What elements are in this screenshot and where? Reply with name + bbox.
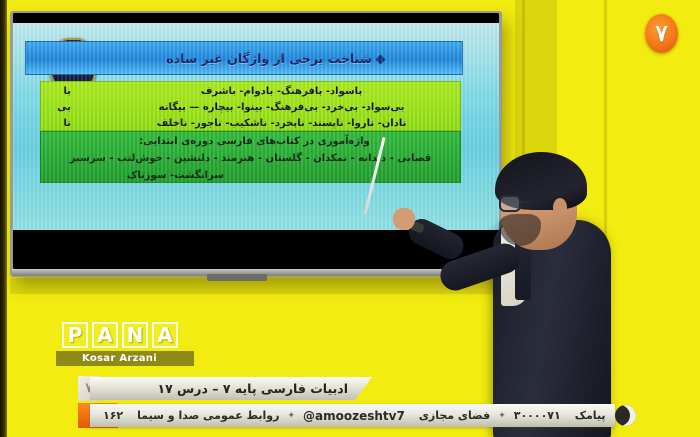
channel-7-logo-icon: ٧ [645, 14, 678, 53]
pana-letter: N [122, 322, 148, 348]
vocabulary-block: واژه‌آموزی در کتاب‌های فارسی دوره‌ی ابتد… [40, 131, 461, 183]
lesson-title-banner: ادبیات فارسی پایه ۷ – درس ۱۷ [90, 377, 372, 400]
contact-ticker-banner: پیامک ۳۰۰۰۰۷۱ ✦ فضای مجازی @amoozeshtv7 … [90, 404, 615, 427]
prefix-row-words: باسواد- بافرهنگ- بادوام- باشرف [71, 84, 452, 100]
ticker-social-label: فضای مجازی [412, 409, 497, 422]
prefix-words-block: باسواد- بافرهنگ- بادوام- باشرف با بی‌سوا… [40, 81, 461, 131]
tv-center-foot [207, 274, 267, 281]
prefix-row-words: بی‌سواد- بی‌خرد- بی‌فرهنگ- بینوا- بیچاره… [71, 100, 452, 116]
prefix-row-label: نا [49, 116, 71, 132]
pana-letter: A [92, 322, 118, 348]
slide-title-text: شناخت برخی از واژگان غیر ساده [166, 51, 384, 66]
ticker-sms-number: ۳۰۰۰۰۷۱ [507, 409, 568, 422]
ticker-separator-icon: ✦ [497, 411, 507, 421]
studio-left-edge [0, 0, 7, 437]
letterbox-top [13, 13, 499, 23]
pana-letter: P [62, 322, 88, 348]
prefix-row-label: بی [49, 100, 71, 116]
slide-title-label: شناخت برخی از واژگان غیر ساده [166, 51, 372, 66]
presenter-hand [393, 208, 415, 230]
ticker-pr-number: ۱۶۲ [96, 409, 130, 422]
lesson-title-text: ادبیات فارسی پایه ۷ – درس ۱۷ [157, 381, 354, 396]
vocabulary-line-2: قصابی - دندانه - نمکدان - گلستان - هنرمن… [49, 150, 452, 167]
crescent-moon-icon [615, 405, 636, 426]
presenter-name-label: Kosar Arzani [56, 351, 194, 366]
presenter-figure [455, 148, 665, 437]
prefix-row-words: نادان- ناروا- ناپسند- نابخرد- ناشکیب- نا… [71, 116, 452, 132]
presentation-slide: جشنواره نوجوان شناخت برخی از واژگان غیر … [13, 23, 499, 230]
ticker-pr-label: روابط عمومی صدا و سیما [130, 409, 286, 422]
channel-logo-glyph: ٧ [655, 22, 667, 45]
vocabulary-heading: واژه‌آموزی در کتاب‌های فارسی دوره‌ی ابتد… [49, 133, 452, 150]
presenter-ear [553, 198, 567, 217]
vocabulary-line-3: سرانگشت- سوزناک [49, 167, 452, 184]
ticker-social-handle[interactable]: @amoozeshtv7 [296, 409, 412, 423]
prefix-row: نادان- ناروا- ناپسند- نابخرد- ناشکیب- نا… [49, 116, 452, 132]
pana-logo-letters: P A N A [62, 322, 194, 348]
ticker-sms-label: پیامک [568, 409, 613, 422]
diamond-bullet-icon [376, 54, 386, 64]
presenter-glasses-bridge [520, 201, 530, 203]
pana-watermark: P A N A Kosar Arzani [62, 322, 194, 366]
presenter-glasses [499, 195, 521, 212]
broadcast-stage: جشنواره نوجوان شناخت برخی از واژگان غیر … [0, 0, 700, 437]
prefix-row-label: با [49, 84, 71, 100]
prefix-row: بی‌سواد- بی‌خرد- بی‌فرهنگ- بینوا- بیچاره… [49, 100, 452, 116]
prefix-row: باسواد- بافرهنگ- بادوام- باشرف با [49, 84, 452, 100]
slide-title-bar: شناخت برخی از واژگان غیر ساده [25, 41, 463, 75]
ticker-separator-icon: ✦ [286, 411, 296, 421]
pana-letter: A [152, 322, 178, 348]
